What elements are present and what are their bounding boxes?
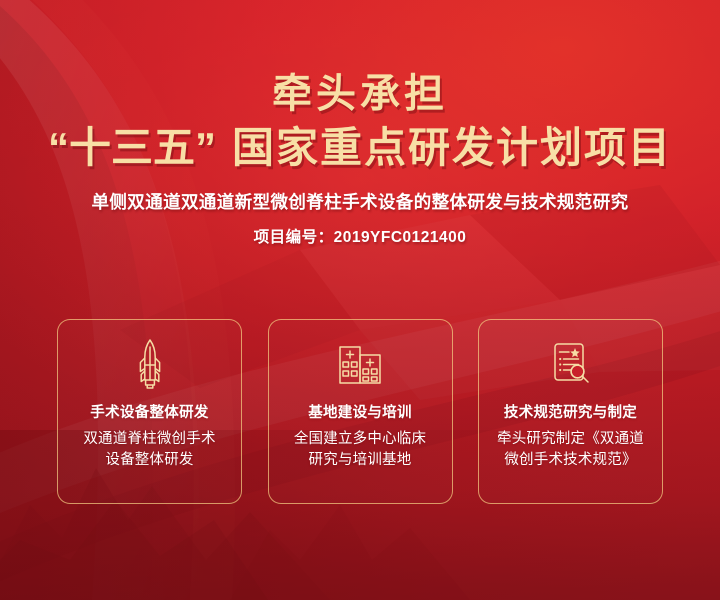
feature-card-2-desc: 全国建立多中心临床 研究与培训基地 — [275, 429, 445, 471]
rocket-icon — [127, 339, 173, 389]
feature-card-1-desc-line1: 双通道脊柱微创手术 — [65, 429, 235, 450]
feature-card-list: 手术设备整体研发 双通道脊柱微创手术 设备整体研发 — [57, 319, 663, 504]
feature-card-2[interactable]: 基地建设与培训 全国建立多中心临床 研究与培训基地 — [268, 319, 453, 504]
feature-card-1-desc-line2: 设备整体研发 — [65, 450, 235, 471]
feature-card-2-desc-line2: 研究与培训基地 — [275, 450, 445, 471]
feature-card-3-title: 技术规范研究与制定 — [504, 401, 637, 422]
feature-card-3-desc-line1: 牵头研究制定《双通道 — [486, 429, 656, 450]
feature-card-3-desc-line2: 微创手术技术规范》 — [486, 450, 656, 471]
project-subtitle: 单侧双通道双通道新型微创脊柱手术设备的整体研发与技术规范研究 — [0, 190, 720, 215]
header-block: 牵头承担 “十三五”国家重点研发计划项目 单侧双通道双通道新型微创脊柱手术设备的… — [0, 72, 720, 247]
feature-card-2-title: 基地建设与培训 — [308, 401, 412, 422]
banner-stage: 牵头承担 “十三五”国家重点研发计划项目 单侧双通道双通道新型微创脊柱手术设备的… — [0, 0, 720, 600]
feature-card-3-desc: 牵头研究制定《双通道 微创手术技术规范》 — [486, 429, 656, 471]
feature-card-1-title: 手术设备整体研发 — [90, 401, 208, 422]
feature-card-1-desc: 双通道脊柱微创手术 设备整体研发 — [65, 429, 235, 471]
feature-card-3[interactable]: 技术规范研究与制定 牵头研究制定《双通道 微创手术技术规范》 — [478, 319, 663, 504]
document-search-icon — [548, 339, 594, 389]
page-title-rest: 国家重点研发计划项目 — [232, 124, 672, 171]
feature-card-1[interactable]: 手术设备整体研发 双通道脊柱微创手术 设备整体研发 — [57, 319, 242, 504]
feature-card-2-desc-line1: 全国建立多中心临床 — [275, 429, 445, 450]
page-title-line1: 牵头承担 — [0, 72, 720, 117]
page-title-line2: “十三五”国家重点研发计划项目 — [0, 123, 720, 173]
page-title-quoted-term: “十三五” — [48, 124, 216, 171]
hospital-building-icon — [337, 339, 383, 389]
project-number: 项目编号：2019YFC0121400 — [0, 225, 720, 247]
